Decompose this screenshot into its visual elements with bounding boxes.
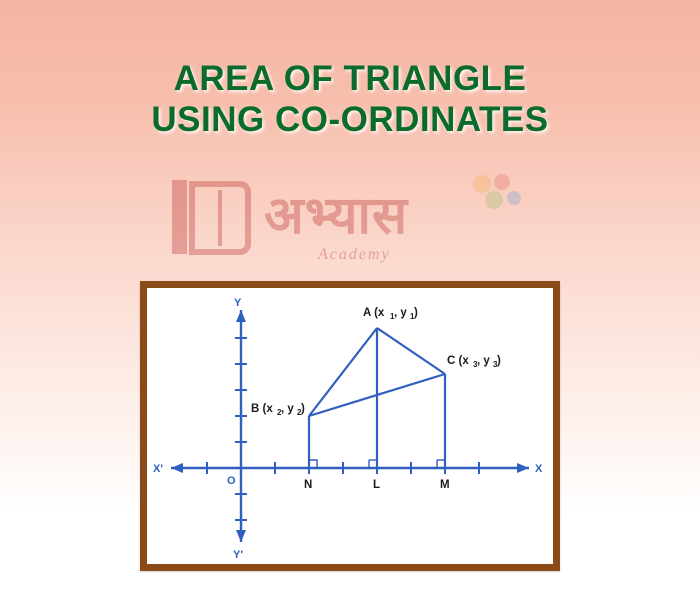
svg-text:): ) <box>497 355 501 367</box>
svg-text:C (x: C (x <box>447 355 469 367</box>
foot-label-N: N <box>304 479 312 491</box>
svg-text:): ) <box>301 403 305 415</box>
svg-text:, y: , y <box>394 307 407 319</box>
svg-text:, y: , y <box>477 355 490 367</box>
axis-label-x-negative: X' <box>153 463 163 475</box>
vertex-label-C: C (x 3 , y 3 ) <box>447 355 501 369</box>
foot-label-L: L <box>373 479 380 491</box>
triangle-shape <box>309 328 445 468</box>
vertex-label-A: A (x 1 , y 1 ) <box>363 307 418 321</box>
axis-label-y-negative: Y' <box>233 549 243 561</box>
coordinate-diagram: Y Y' X X' O A (x 1 , y 1 ) B (x 2 , y 2 <box>147 288 553 564</box>
x-axis <box>171 462 529 474</box>
title-line-2: USING CO-ORDINATES <box>0 99 700 140</box>
poster-canvas: AREA OF TRIANGLE USING CO-ORDINATES अभ्य… <box>0 0 700 600</box>
diagram-canvas: Y Y' X X' O A (x 1 , y 1 ) B (x 2 , y 2 <box>147 288 553 564</box>
watermark-text: अभ्यास <box>264 178 534 248</box>
watermark-logo: अभ्यास Academy <box>168 172 532 282</box>
svg-text:B (x: B (x <box>251 403 273 415</box>
axis-label-origin: O <box>227 475 236 487</box>
axis-label-x-positive: X <box>535 463 543 475</box>
svg-text:): ) <box>414 307 418 319</box>
book-icon <box>168 174 264 260</box>
diagram-frame: Y Y' X X' O A (x 1 , y 1 ) B (x 2 , y 2 <box>140 281 560 571</box>
watermark-subtitle: Academy <box>318 246 391 264</box>
axis-label-y-positive: Y <box>234 297 242 309</box>
svg-text:, y: , y <box>281 403 294 415</box>
foot-label-M: M <box>440 479 450 491</box>
dots-icon <box>468 172 528 212</box>
y-axis <box>235 310 247 542</box>
page-title: AREA OF TRIANGLE USING CO-ORDINATES <box>0 58 700 140</box>
title-line-1: AREA OF TRIANGLE <box>0 58 700 99</box>
vertex-label-B: B (x 2 , y 2 ) <box>251 403 305 417</box>
svg-text:A (x: A (x <box>363 307 385 319</box>
